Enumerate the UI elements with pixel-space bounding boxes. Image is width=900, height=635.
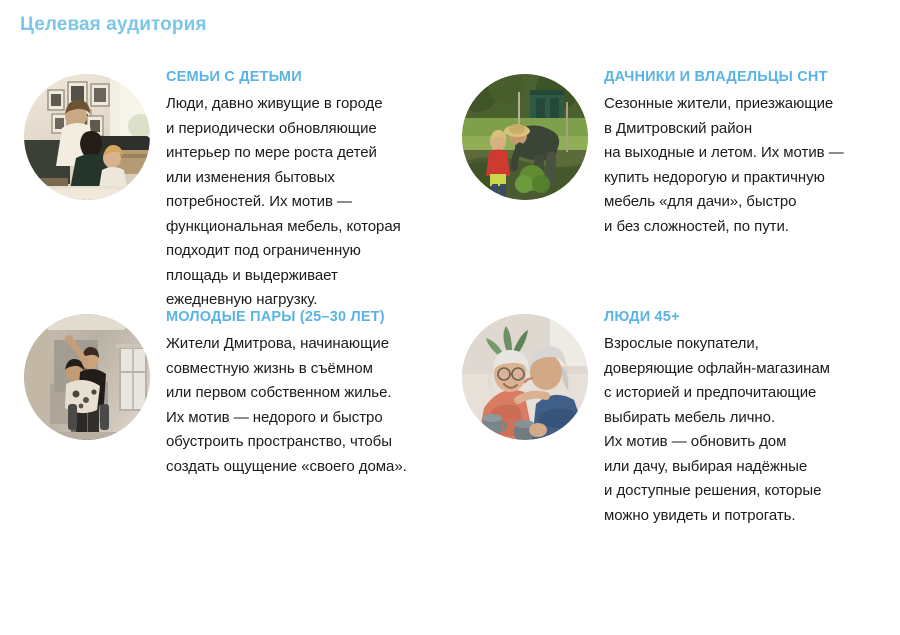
persona-body: Люди, давно живущие в городе и периодиче… [166, 92, 448, 313]
gardeners-dacha-photo [462, 74, 588, 200]
persona-card-young-couples: МОЛОДЫЕ ПАРЫ (25–30 ЛЕТ) Жители Дмитрова… [0, 302, 452, 479]
persona-heading: ЛЮДИ 45+ [604, 308, 872, 326]
persona-heading: МОЛОДЫЕ ПАРЫ (25–30 ЛЕТ) [166, 308, 451, 326]
young-couple-renovation-photo [24, 314, 150, 440]
persona-body: Взрослые покупатели, доверяющие офлайн-м… [604, 332, 872, 528]
family-with-children-photo [24, 74, 150, 200]
persona-card-families: СЕМЬИ С ДЕТЬМИ Люди, давно живущие в гор… [0, 62, 452, 313]
persona-card-older-adults: ЛЮДИ 45+ Взрослые покупатели, доверяющие… [452, 302, 900, 528]
persona-text-young-couples: МОЛОДЫЕ ПАРЫ (25–30 ЛЕТ) Жители Дмитрова… [166, 302, 451, 479]
persona-row-bottom: МОЛОДЫЕ ПАРЫ (25–30 ЛЕТ) Жители Дмитрова… [0, 302, 900, 552]
persona-text-older-adults: ЛЮДИ 45+ Взрослые покупатели, доверяющие… [604, 302, 872, 528]
persona-card-dacha: ДАЧНИКИ И ВЛАДЕЛЬЦЫ СНТ Сезонные жители,… [452, 62, 900, 239]
slide-root: Целевая аудитория [0, 0, 900, 635]
persona-text-families: СЕМЬИ С ДЕТЬМИ Люди, давно живущие в гор… [166, 62, 448, 313]
persona-body: Жители Дмитрова, начинающие совместную ж… [166, 332, 451, 479]
persona-text-dacha: ДАЧНИКИ И ВЛАДЕЛЬЦЫ СНТ Сезонные жители,… [604, 62, 876, 239]
persona-body: Сезонные жители, приезжающие в Дмитровск… [604, 92, 876, 239]
persona-grid: СЕМЬИ С ДЕТЬМИ Люди, давно живущие в гор… [0, 62, 900, 552]
persona-heading: СЕМЬИ С ДЕТЬМИ [166, 68, 448, 86]
persona-row-top: СЕМЬИ С ДЕТЬМИ Люди, давно живущие в гор… [0, 62, 900, 302]
persona-heading: ДАЧНИКИ И ВЛАДЕЛЬЦЫ СНТ [604, 68, 876, 86]
older-couple-photo [462, 314, 588, 440]
page-title: Целевая аудитория [20, 14, 207, 37]
